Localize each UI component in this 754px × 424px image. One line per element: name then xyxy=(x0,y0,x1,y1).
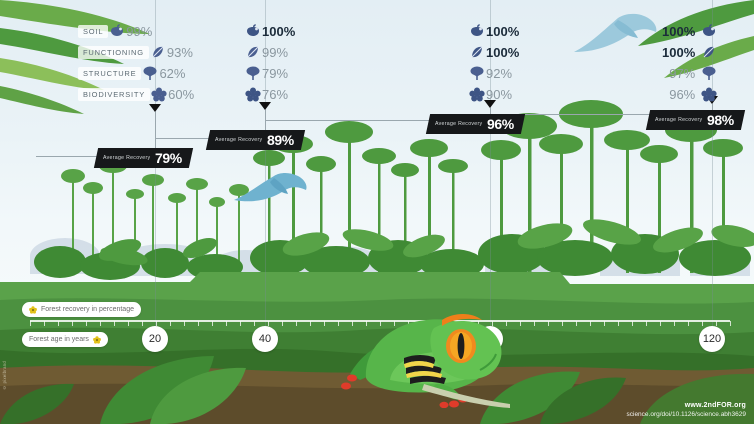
axis-tick xyxy=(142,321,143,326)
legend-age-label: Forest age in years xyxy=(29,336,89,343)
data-column-20yr: SOIL 99% FUNCTIONING 93% STRUCTURE 62% B… xyxy=(78,22,194,106)
data-row: 96% xyxy=(662,85,718,103)
vertical-credit: © pixelbrand xyxy=(2,361,7,390)
credit-doi[interactable]: science.org/doi/10.1126/science.abh3629 xyxy=(627,411,747,418)
badge-value: 98% xyxy=(707,112,734,128)
value-biodiversity: 90% xyxy=(486,87,512,102)
flower-icon-yellow xyxy=(29,306,37,314)
axis-tick xyxy=(324,321,325,326)
axis-tick xyxy=(114,321,115,326)
data-row: STRUCTURE 62% xyxy=(78,64,194,82)
axis-tick xyxy=(58,321,59,326)
axis-tick xyxy=(618,321,619,326)
data-row: 79% xyxy=(244,64,295,82)
data-row: 97% xyxy=(662,64,718,82)
value-soil: 100% xyxy=(262,24,295,39)
axis-tick xyxy=(660,321,661,326)
average-recovery-badge-80: Average recovery 96% xyxy=(426,114,525,134)
axis-tick xyxy=(730,321,731,326)
axis-tick xyxy=(688,321,689,326)
axis-tick xyxy=(86,321,87,326)
axis-tick xyxy=(548,321,549,326)
credit-website[interactable]: www.2ndFOR.org xyxy=(627,402,747,409)
year-marker-40[interactable]: 40 xyxy=(252,326,278,352)
axis-tick xyxy=(268,321,269,326)
soil-clod-icon xyxy=(700,22,718,40)
axis-tick xyxy=(310,321,311,326)
flower-icon xyxy=(150,85,168,103)
value-soil: 99% xyxy=(126,24,152,39)
leaf-icon xyxy=(468,43,486,61)
tree-icon xyxy=(700,64,718,82)
axis-tick xyxy=(604,321,605,326)
tree-icon xyxy=(244,64,262,82)
value-structure: 92% xyxy=(486,66,512,81)
axis-tick xyxy=(520,321,521,326)
category-label-soil: SOIL xyxy=(78,25,108,38)
data-row: BIODIVERSITY 60% xyxy=(78,85,194,103)
soil-clod-icon xyxy=(244,22,262,40)
year-marker-120[interactable]: 120 xyxy=(699,326,725,352)
credits: www.2ndFOR.org science.org/doi/10.1126/s… xyxy=(627,402,747,418)
axis-tick xyxy=(632,321,633,326)
axis-tick xyxy=(296,321,297,326)
value-soil: 100% xyxy=(486,24,519,39)
category-label-biodiversity: BIODIVERSITY xyxy=(78,88,150,101)
legend-recovery-label: Forest recovery in percentage xyxy=(41,306,134,313)
average-recovery-badge-20: Average recovery 79% xyxy=(94,148,193,168)
bird-icon xyxy=(230,166,308,210)
value-soil: 100% xyxy=(662,24,695,39)
value-biodiversity: 96% xyxy=(669,87,695,102)
axis-tick xyxy=(30,321,31,326)
value-structure: 62% xyxy=(159,66,185,81)
data-column-120yr: 100% 100% 97% 96% xyxy=(662,22,718,106)
badge-value: 89% xyxy=(267,132,294,148)
data-row: 100% xyxy=(244,22,295,40)
data-row: 100% xyxy=(468,22,519,40)
badge-label: Average recovery xyxy=(215,137,262,143)
tree-icon xyxy=(141,64,159,82)
axis-tick xyxy=(674,321,675,326)
infographic-canvas: SOIL 99% FUNCTIONING 93% STRUCTURE 62% B… xyxy=(0,0,754,424)
axis-tick xyxy=(184,321,185,326)
value-functioning: 99% xyxy=(262,45,288,60)
leaf-icon xyxy=(244,43,262,61)
axis-tick xyxy=(562,321,563,326)
leaf-icon xyxy=(149,43,167,61)
bird-icon xyxy=(564,8,660,66)
axis-tick xyxy=(212,321,213,326)
axis-tick xyxy=(702,321,703,326)
value-structure: 97% xyxy=(669,66,695,81)
data-row: 100% xyxy=(662,43,718,61)
axis-tick xyxy=(576,321,577,326)
axis-tick xyxy=(254,321,255,326)
flower-icon xyxy=(468,85,486,103)
legend-recovery-pill: Forest recovery in percentage xyxy=(22,302,141,317)
data-row: 76% xyxy=(244,85,295,103)
data-row: 100% xyxy=(662,22,718,40)
badge-label: Average recovery xyxy=(103,155,150,161)
year-marker-20[interactable]: 20 xyxy=(142,326,168,352)
axis-tick xyxy=(72,321,73,326)
axis-tick xyxy=(198,321,199,326)
value-structure: 79% xyxy=(262,66,288,81)
data-row: SOIL 99% xyxy=(78,22,194,40)
axis-tick xyxy=(100,321,101,326)
legend-age-pill: Forest age in years xyxy=(22,332,108,347)
data-column-40yr: 100% 99% 79% 76% xyxy=(244,22,295,106)
category-label-structure: STRUCTURE xyxy=(78,67,141,80)
data-row: 90% xyxy=(468,85,519,103)
axis-tick xyxy=(716,321,717,326)
badge-value: 79% xyxy=(155,150,182,166)
tree-frog-illustration xyxy=(330,258,510,408)
flower-icon xyxy=(244,85,262,103)
data-row: 92% xyxy=(468,64,519,82)
data-row: 100% xyxy=(468,43,519,61)
value-biodiversity: 60% xyxy=(168,87,194,102)
flower-icon-yellow xyxy=(93,336,101,344)
flower-icon xyxy=(700,85,718,103)
average-recovery-badge-40: Average recovery 89% xyxy=(206,130,305,150)
badge-value: 96% xyxy=(487,116,514,132)
axis-tick xyxy=(170,321,171,326)
axis-tick xyxy=(534,321,535,326)
axis-tick xyxy=(128,321,129,326)
tree-icon xyxy=(468,64,486,82)
soil-clod-icon xyxy=(108,22,126,40)
badge-label: Average recovery xyxy=(435,121,482,127)
badge-label: Average recovery xyxy=(655,117,702,123)
data-column-80yr: 100% 100% 92% 90% xyxy=(468,22,519,106)
value-functioning: 100% xyxy=(662,45,695,60)
axis-tick xyxy=(646,321,647,326)
data-row: 99% xyxy=(244,43,295,61)
data-row: FUNCTIONING 93% xyxy=(78,43,194,61)
soil-clod-icon xyxy=(468,22,486,40)
axis-tick xyxy=(240,321,241,326)
category-label-functioning: FUNCTIONING xyxy=(78,46,149,59)
value-functioning: 93% xyxy=(167,45,193,60)
axis-tick xyxy=(282,321,283,326)
value-functioning: 100% xyxy=(486,45,519,60)
value-biodiversity: 76% xyxy=(262,87,288,102)
axis-tick xyxy=(44,321,45,326)
axis-tick xyxy=(226,321,227,326)
axis-tick xyxy=(590,321,591,326)
average-recovery-badge-120: Average recovery 98% xyxy=(646,110,745,130)
leaf-icon xyxy=(700,43,718,61)
